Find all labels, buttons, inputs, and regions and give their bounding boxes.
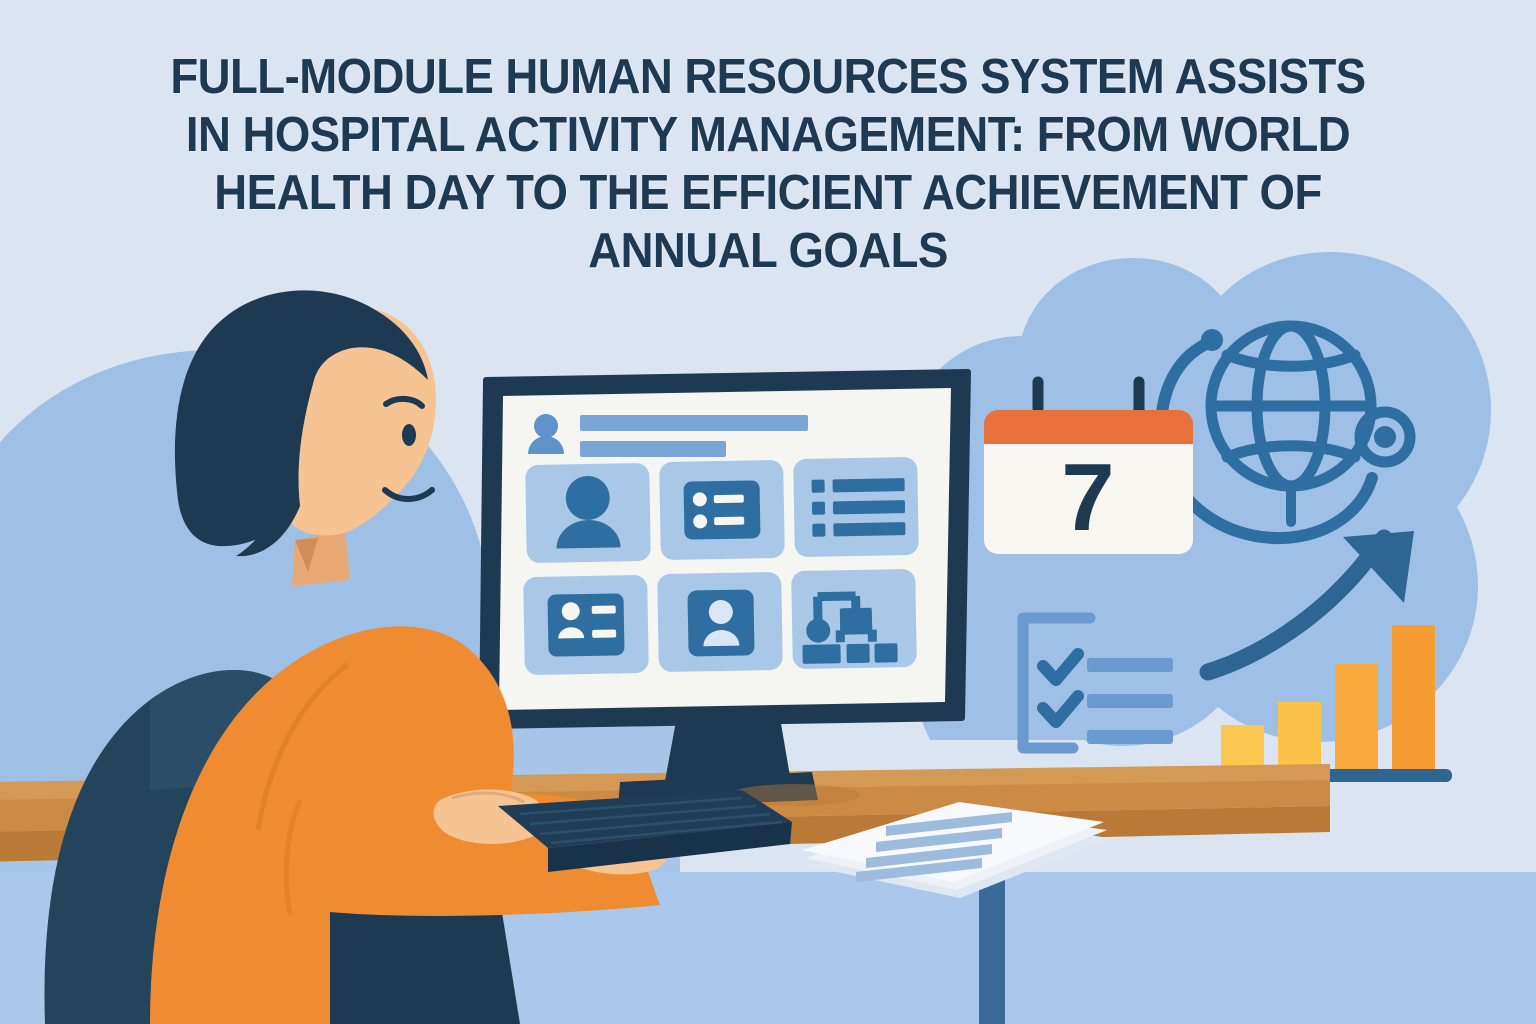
person-head xyxy=(175,290,436,586)
eye xyxy=(402,424,416,446)
poster-canvas: FULL-MODULE HUMAN RESOURCES SYSTEM ASSIS… xyxy=(0,0,1536,1024)
person-layer xyxy=(0,0,1536,1024)
